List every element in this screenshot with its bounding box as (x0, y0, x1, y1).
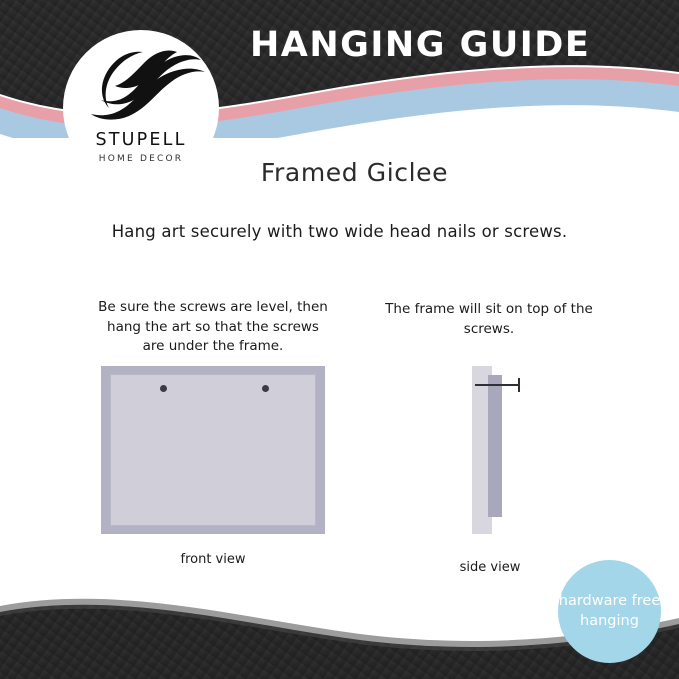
instruction-text: Hang art securely with two wide head nai… (0, 222, 679, 241)
side-view-caption: The frame will sit on top of the screws. (378, 300, 600, 339)
front-view-mat (110, 374, 316, 526)
logo-subtitle: HOME DECOR (63, 154, 219, 164)
side-view-frame (488, 375, 502, 517)
side-view-screw-head-icon (518, 378, 520, 392)
page-title: HANGING GUIDE (250, 28, 650, 63)
screw-right-icon (262, 385, 269, 392)
logo-name: STUPELL (63, 130, 219, 150)
status-badge: hardware free hanging (558, 560, 661, 663)
side-view-screw-icon (475, 384, 520, 386)
front-view-caption: Be sure the screws are level, then hang … (98, 298, 328, 357)
swoosh-logo-icon (63, 48, 219, 126)
side-view-label: side view (400, 560, 580, 575)
screw-left-icon (160, 385, 167, 392)
hanging-guide-page: HANGING GUIDE STUPELL HOME DECOR Framed … (0, 0, 679, 679)
front-view-label: front view (101, 552, 325, 567)
logo: STUPELL HOME DECOR (63, 30, 219, 186)
